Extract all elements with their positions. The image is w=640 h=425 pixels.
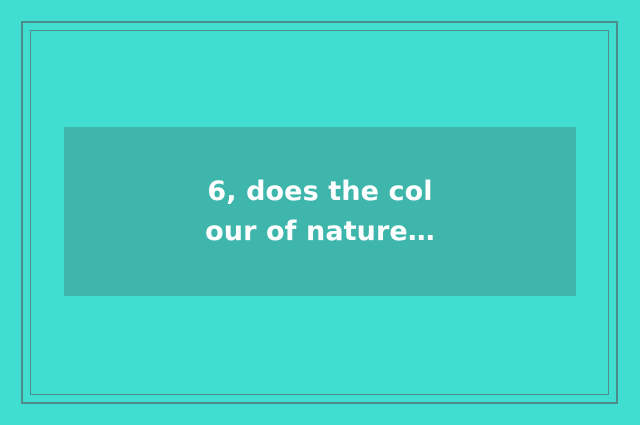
caption-text: 6, does the col our of nature… [205, 172, 435, 252]
caption-card: 6, does the col our of nature… [0, 0, 640, 425]
caption-band: 6, does the col our of nature… [64, 127, 576, 296]
